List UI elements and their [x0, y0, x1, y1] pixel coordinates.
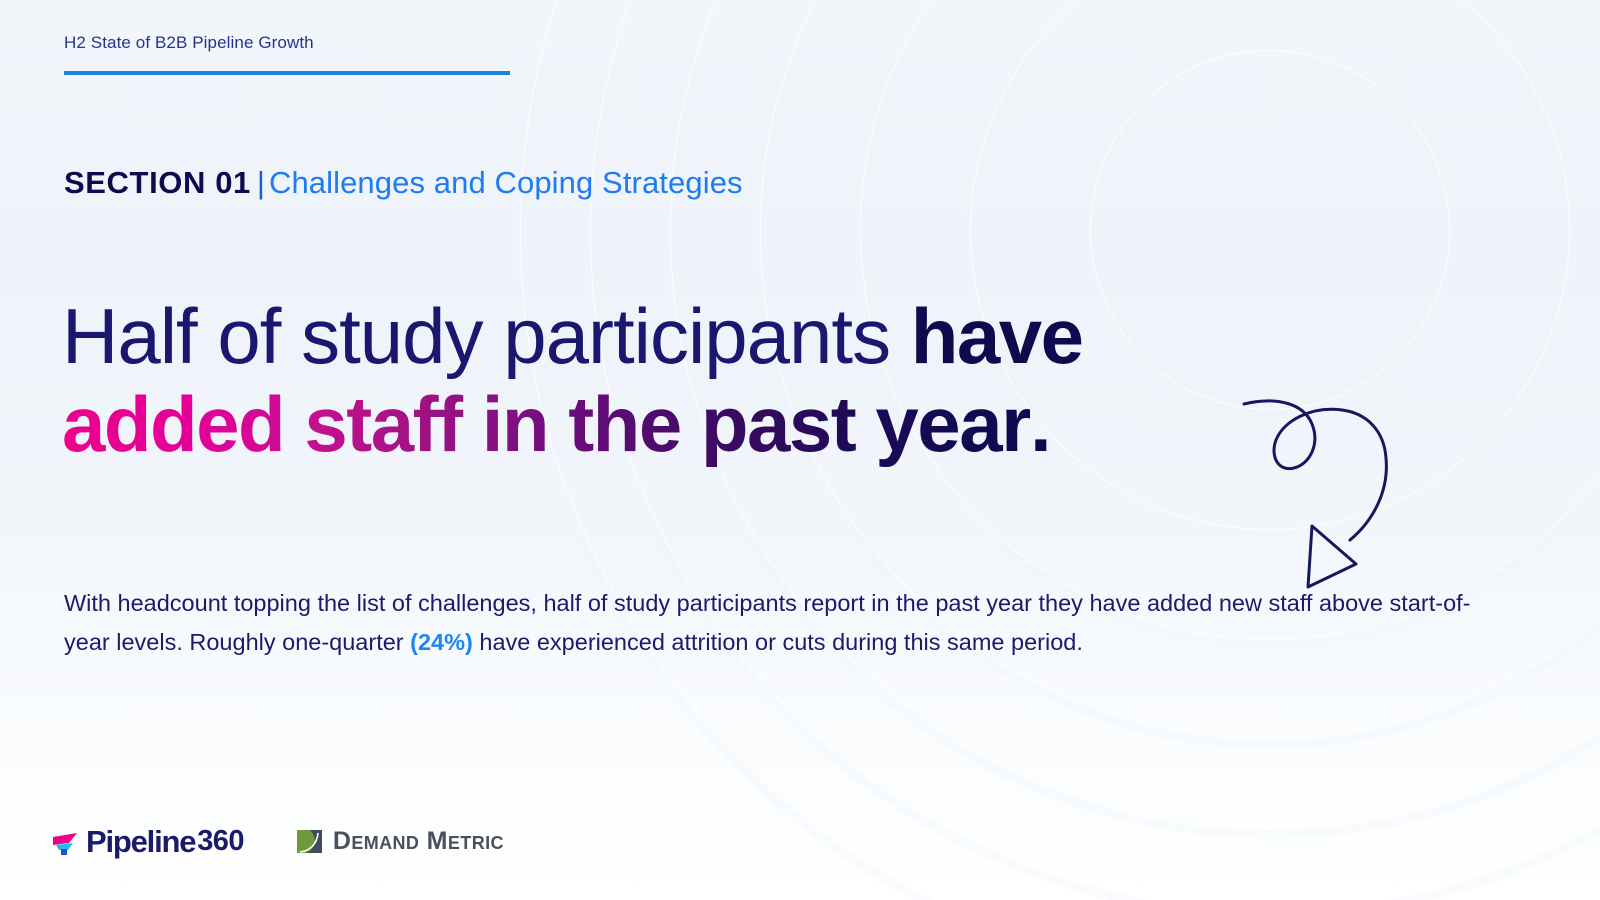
slide-header: H2 State of B2B Pipeline Growth [0, 0, 446, 75]
header-underline-rule [64, 71, 510, 75]
headline-gradient-text: added staff in the past year [62, 380, 1030, 468]
headline-line-2: added staff in the past year. [62, 380, 1312, 468]
section-eyebrow: SECTION 01|Challenges and Coping Strateg… [64, 164, 743, 201]
headline-period: . [1030, 380, 1051, 468]
section-number: SECTION 01 [64, 165, 251, 200]
footer-logos: Pipeline360 Demand Metric [50, 824, 504, 858]
pipeline360-logo: Pipeline360 [50, 824, 244, 858]
body-paragraph: With headcount topping the list of chall… [64, 584, 1484, 662]
headline-block: Half of study participants have added st… [62, 292, 1312, 468]
slide-canvas: H2 State of B2B Pipeline Growth SECTION … [0, 0, 1600, 900]
stat-highlight: (24%) [410, 629, 473, 655]
headline-line-1: Half of study participants have [62, 292, 1312, 380]
headline-light-text: Half of study participants [62, 292, 911, 380]
headline-bold-text: have [911, 292, 1083, 380]
section-subtitle: Challenges and Coping Strategies [269, 165, 743, 200]
demand-metric-logo: Demand Metric [296, 827, 504, 855]
demand-metric-mark-icon [296, 827, 324, 855]
section-separator: | [251, 165, 269, 200]
body-text-part-2: have experienced attrition or cuts durin… [473, 629, 1083, 655]
demand-metric-wordmark: Demand Metric [333, 829, 504, 854]
header-title: H2 State of B2B Pipeline Growth [64, 0, 446, 51]
pipeline360-number: 360 [197, 825, 244, 858]
pipeline360-mark-icon [50, 824, 84, 858]
pipeline360-wordmark: Pipeline [86, 826, 195, 857]
